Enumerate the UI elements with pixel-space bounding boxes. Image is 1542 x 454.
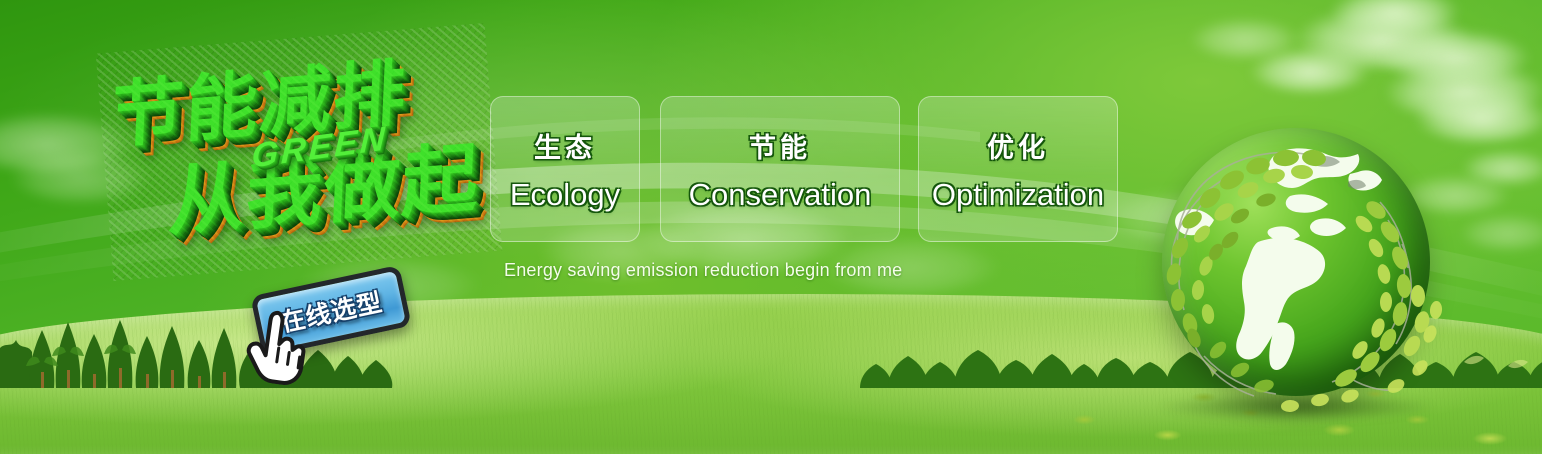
feature-card-cn-label: 优化 (987, 126, 1049, 165)
cloud-icon (1190, 18, 1300, 58)
feature-card-cn-label: 生态 (534, 126, 596, 165)
cloud-icon (1250, 48, 1370, 92)
cloud-icon (1462, 150, 1542, 184)
cloud-icon (1380, 30, 1530, 82)
feature-card-en-label: Optimization (932, 177, 1104, 213)
feature-card-optimization[interactable]: 优化 Optimization (918, 96, 1118, 242)
feature-card-en-label: Ecology (510, 177, 620, 213)
hand-pointer-cursor-icon (242, 304, 316, 388)
feature-card-en-label: Conservation (689, 177, 872, 213)
feature-card-ecology[interactable]: 生态 Ecology (490, 96, 640, 242)
globe-sphere (1162, 128, 1430, 396)
feature-card-conservation[interactable]: 节能 Conservation (660, 96, 900, 242)
banner-tagline: Energy saving emission reduction begin f… (504, 260, 902, 281)
cloud-icon (1295, 6, 1470, 68)
globe-shadow (1156, 392, 1438, 422)
online-selection-cta[interactable]: 在线选型 (255, 276, 425, 366)
cloud-icon (1330, 0, 1460, 34)
cloud-icon (1385, 60, 1542, 120)
globe-continents (1162, 128, 1430, 396)
feature-card-cn-label: 节能 (749, 126, 811, 165)
headline-3d-artwork: 节能减排 GREEN 从我做起 (96, 23, 503, 281)
eco-promo-banner: 节能减排 GREEN 从我做起 在线选型 生态 Ecology 节能 Conse… (0, 0, 1542, 454)
leafy-earth-globe-icon (1144, 124, 1454, 436)
cloud-icon (1460, 214, 1542, 250)
